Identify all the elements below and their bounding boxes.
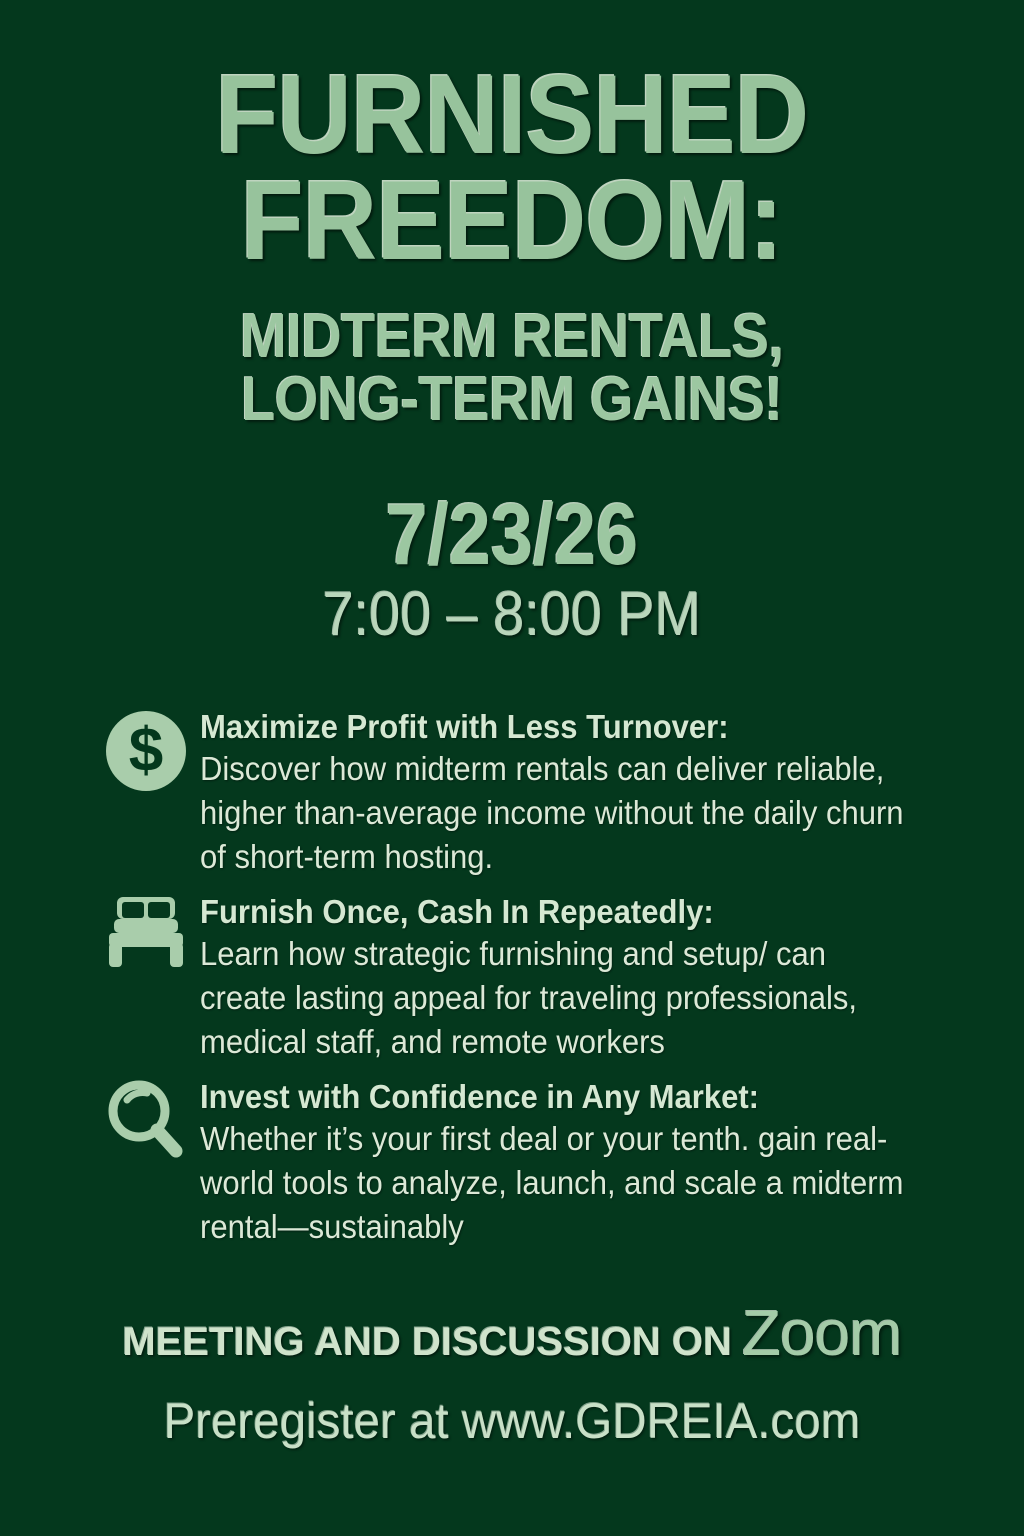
poster-title: FURNISHED FREEDOM: [0,62,1024,275]
zoom-wordmark: Zoom [742,1297,902,1369]
subtitle-line-1: MIDTERM RENTALS, [51,305,973,368]
benefit-body: Learn how strategic furnishing and setup… [200,932,909,1064]
dollar-coin-icon: $ [98,706,194,790]
event-datetime: 7/23/26 7:00 – 8:00 PM [0,492,1024,646]
meeting-platform-line: MEETING AND DISCUSSION ONZoom [0,1296,1024,1370]
poster-footer: MEETING AND DISCUSSION ONZoom Preregiste… [0,1296,1024,1450]
benefit-text: Invest with Confidence in Any Market: Wh… [194,1076,954,1249]
magnifier-icon [98,1076,194,1160]
flyer-poster: FURNISHED FREEDOM: MIDTERM RENTALS, LONG… [0,0,1024,1536]
poster-subtitle: MIDTERM RENTALS, LONG-TERM GAINS! [0,305,1024,431]
benefit-body: Discover how midterm rentals can deliver… [200,747,909,879]
benefit-text: Furnish Once, Cash In Repeatedly: Learn … [194,891,954,1064]
benefit-heading: Invest with Confidence in Any Market: [200,1076,909,1117]
svg-text:$: $ [129,716,163,785]
title-line-1: FURNISHED [41,62,983,168]
subtitle-line-2: LONG-TERM GAINS! [51,368,973,431]
benefits-list: $ Maximize Profit with Less Turnover: Di… [98,706,954,1261]
event-time: 7:00 – 8:00 PM [51,584,973,646]
benefit-body: Whether it’s your first deal or your ten… [200,1117,909,1249]
bed-icon [98,891,194,975]
benefit-heading: Furnish Once, Cash In Repeatedly: [200,891,909,932]
benefit-item: $ Maximize Profit with Less Turnover: Di… [98,706,954,879]
benefit-item: Furnish Once, Cash In Repeatedly: Learn … [98,891,954,1064]
benefit-heading: Maximize Profit with Less Turnover: [200,706,909,747]
meeting-label: MEETING AND DISCUSSION ON [122,1320,732,1364]
register-link[interactable]: Preregister at www.GDREIA.com [26,1392,999,1450]
title-line-2: FREEDOM: [41,168,983,274]
event-date: 7/23/26 [61,492,962,578]
benefit-text: Maximize Profit with Less Turnover: Disc… [194,706,954,879]
benefit-item: Invest with Confidence in Any Market: Wh… [98,1076,954,1249]
